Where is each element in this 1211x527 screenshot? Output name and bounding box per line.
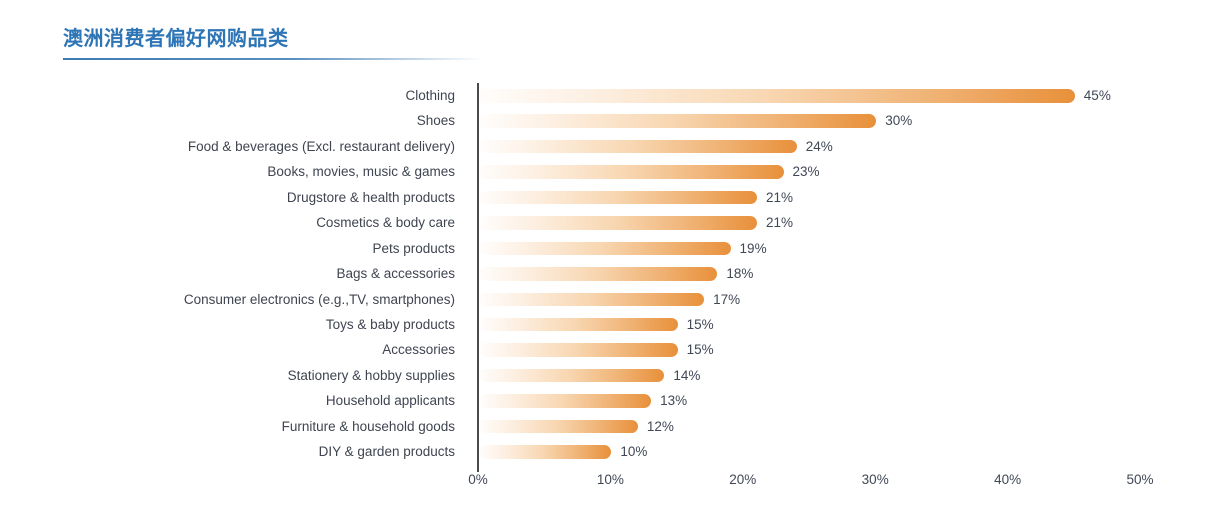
bar-row: Food & beverages (Excl. restaurant deliv… <box>0 134 1211 159</box>
bar[interactable] <box>479 318 678 332</box>
bar-row: Books, movies, music & games23% <box>0 159 1211 184</box>
bar[interactable] <box>479 369 664 383</box>
bar-row: Pets products19% <box>0 236 1211 261</box>
title-block: 澳洲消费者偏好网购品类 <box>63 26 483 52</box>
bar-track: 15% <box>479 337 1211 362</box>
bar-row: Furniture & household goods12% <box>0 414 1211 439</box>
x-axis-tick-label: 50% <box>1126 472 1153 487</box>
x-axis-tick-label: 20% <box>729 472 756 487</box>
bar-track: 18% <box>479 261 1211 286</box>
bar-row: Toys & baby products15% <box>0 312 1211 337</box>
x-axis-tick-label: 10% <box>597 472 624 487</box>
bar[interactable] <box>479 420 638 434</box>
bar-row: Drugstore & health products21% <box>0 185 1211 210</box>
bar-value-label: 15% <box>687 312 714 337</box>
category-label: Consumer electronics (e.g.,TV, smartphon… <box>184 287 455 312</box>
category-label: Books, movies, music & games <box>267 159 455 184</box>
bar-rows: Clothing45%Shoes30%Food & beverages (Exc… <box>0 83 1211 465</box>
page-title: 澳洲消费者偏好网购品类 <box>63 26 483 52</box>
bar[interactable] <box>479 267 717 281</box>
bar-track: 19% <box>479 236 1211 261</box>
bar-value-label: 24% <box>806 134 833 159</box>
bar-track: 30% <box>479 108 1211 133</box>
category-label: Cosmetics & body care <box>316 210 455 235</box>
category-label: Accessories <box>382 337 455 362</box>
bar-value-label: 19% <box>740 236 767 261</box>
bar[interactable] <box>479 293 704 307</box>
bar-track: 24% <box>479 134 1211 159</box>
bar-row: Stationery & hobby supplies14% <box>0 363 1211 388</box>
x-axis-tick-label: 0% <box>468 472 488 487</box>
bar-track: 23% <box>479 159 1211 184</box>
bar[interactable] <box>479 140 797 154</box>
bar-value-label: 18% <box>726 261 753 286</box>
category-label: Toys & baby products <box>326 312 455 337</box>
bar[interactable] <box>479 343 678 357</box>
bar[interactable] <box>479 191 757 205</box>
bar-value-label: 30% <box>885 108 912 133</box>
bar-track: 21% <box>479 185 1211 210</box>
category-label: Drugstore & health products <box>287 185 455 210</box>
bar-value-label: 12% <box>647 414 674 439</box>
category-label: Household applicants <box>326 388 455 413</box>
bar-row: Clothing45% <box>0 83 1211 108</box>
bar[interactable] <box>479 445 611 459</box>
bar-row: DIY & garden products10% <box>0 439 1211 464</box>
bar[interactable] <box>479 394 651 408</box>
category-label: Furniture & household goods <box>282 414 455 439</box>
category-label: Stationery & hobby supplies <box>288 363 455 388</box>
bar-row: Shoes30% <box>0 108 1211 133</box>
bar-track: 12% <box>479 414 1211 439</box>
bar-track: 17% <box>479 287 1211 312</box>
bar-track: 14% <box>479 363 1211 388</box>
bar-value-label: 23% <box>793 159 820 184</box>
bar-value-label: 21% <box>766 210 793 235</box>
bar-track: 21% <box>479 210 1211 235</box>
category-label: Food & beverages (Excl. restaurant deliv… <box>188 134 455 159</box>
bar-value-label: 13% <box>660 388 687 413</box>
title-underline-divider <box>63 58 483 60</box>
bar-value-label: 21% <box>766 185 793 210</box>
bar-row: Accessories15% <box>0 337 1211 362</box>
category-label: Bags & accessories <box>336 261 455 286</box>
bar-value-label: 14% <box>673 363 700 388</box>
category-label: Shoes <box>417 108 455 133</box>
x-axis-ticks: 0%10%20%30%40%50% <box>0 472 1211 496</box>
bar-track: 10% <box>479 439 1211 464</box>
bar-track: 13% <box>479 388 1211 413</box>
x-axis-tick-label: 30% <box>862 472 889 487</box>
bar[interactable] <box>479 114 876 128</box>
bar-value-label: 45% <box>1084 83 1111 108</box>
bar-value-label: 17% <box>713 287 740 312</box>
category-label: Clothing <box>405 83 455 108</box>
category-label: Pets products <box>372 236 455 261</box>
bar-row: Consumer electronics (e.g.,TV, smartphon… <box>0 287 1211 312</box>
chart-page: 澳洲消费者偏好网购品类 Clothing45%Shoes30%Food & be… <box>0 0 1211 527</box>
bar[interactable] <box>479 216 757 230</box>
bar-row: Bags & accessories18% <box>0 261 1211 286</box>
category-label: DIY & garden products <box>319 439 455 464</box>
bar-track: 45% <box>479 83 1211 108</box>
bar[interactable] <box>479 89 1075 103</box>
plot-area: Clothing45%Shoes30%Food & beverages (Exc… <box>0 83 1211 483</box>
bar[interactable] <box>479 242 731 256</box>
bar-row: Cosmetics & body care21% <box>0 210 1211 235</box>
bar-row: Household applicants13% <box>0 388 1211 413</box>
bar-track: 15% <box>479 312 1211 337</box>
x-axis-tick-label: 40% <box>994 472 1021 487</box>
bar[interactable] <box>479 165 784 179</box>
bar-value-label: 10% <box>620 439 647 464</box>
bar-value-label: 15% <box>687 337 714 362</box>
